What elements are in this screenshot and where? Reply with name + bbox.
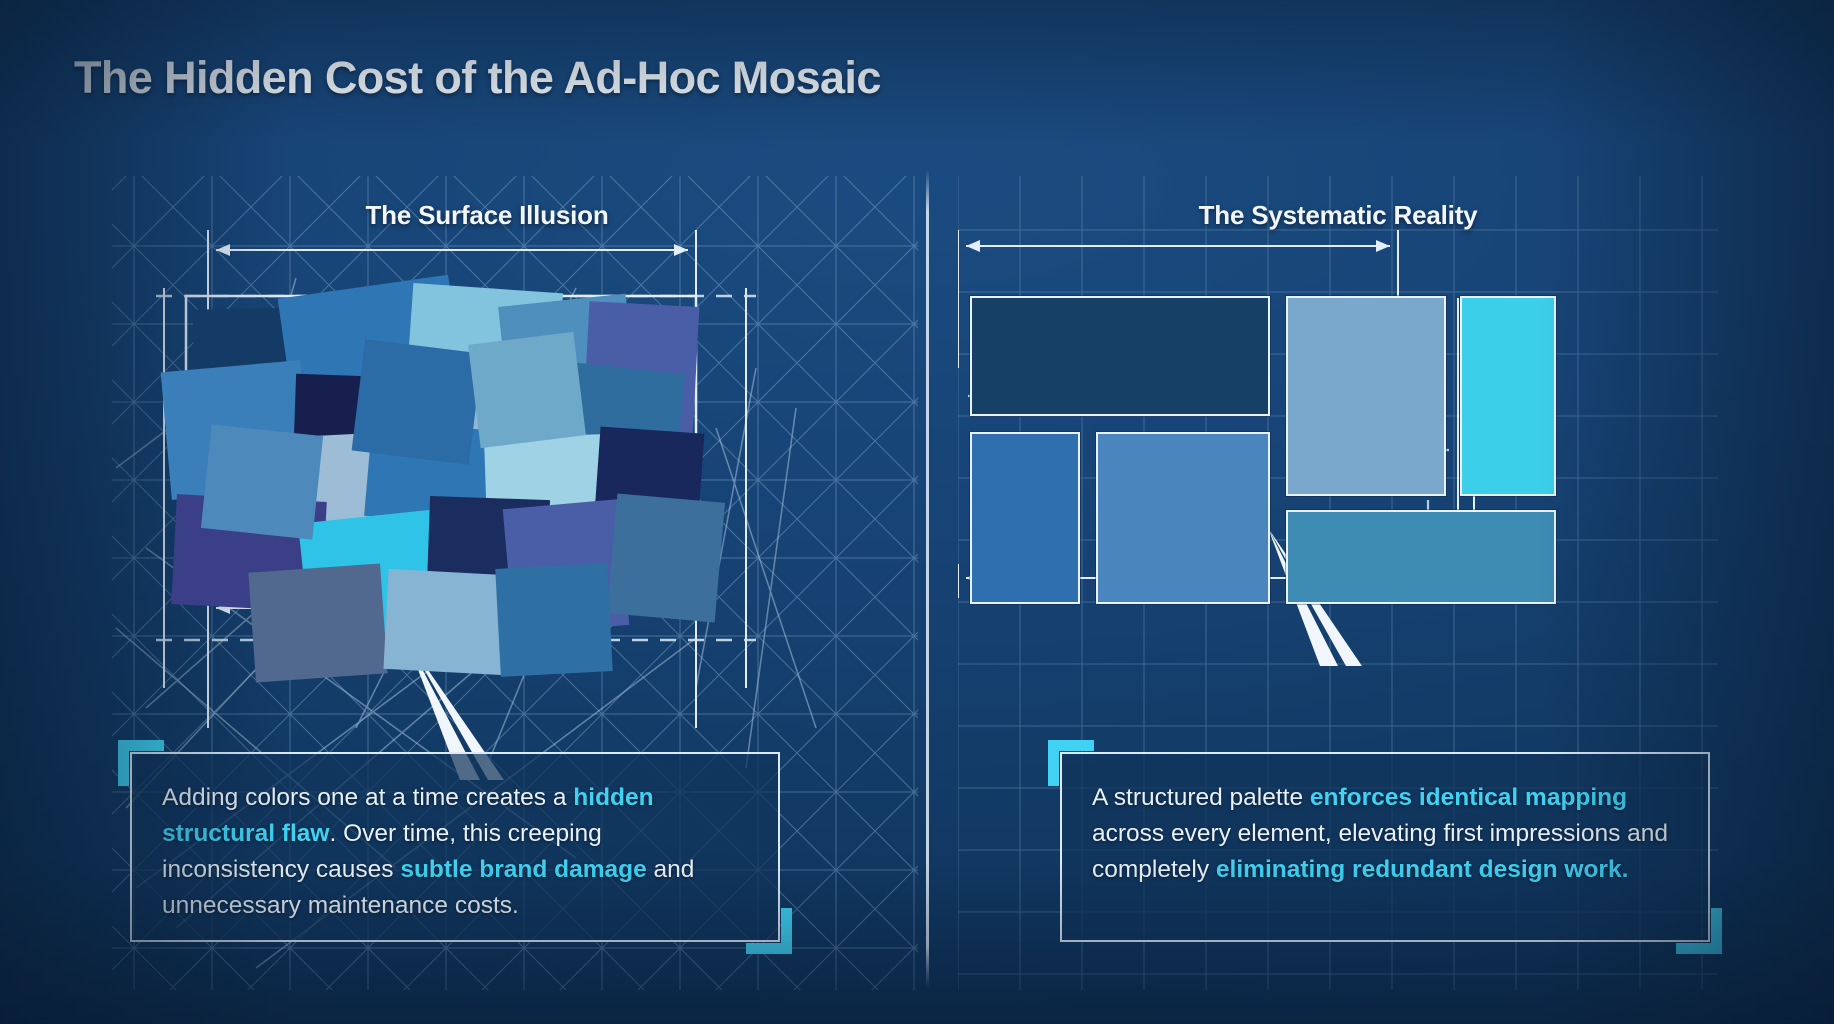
highlight-phrase: eliminating redundant design work.: [1216, 856, 1628, 883]
block-accent: [1460, 296, 1556, 496]
block-sidebar: [970, 432, 1080, 604]
panel-divider: [926, 170, 929, 988]
block-footer: [1286, 510, 1556, 604]
color-swatch: [352, 339, 483, 465]
color-swatch: [468, 332, 586, 448]
block-header: [970, 296, 1270, 416]
page-title: The Hidden Cost of the Ad-Hoc Mosaic: [74, 52, 881, 104]
color-swatch: [201, 424, 323, 539]
corner-bracket-bottom-right: [1676, 908, 1722, 954]
highlight-phrase: enforces identical mapping: [1310, 784, 1627, 811]
caption-text: A structured palette: [1092, 784, 1310, 811]
corner-bracket-bottom-right: [746, 908, 792, 954]
ad-hoc-mosaic: [56, 168, 918, 728]
highlight-phrase: subtle brand damage: [400, 856, 646, 883]
callout-systematic-reality: A structured palette enforces identical …: [1060, 752, 1710, 942]
callout-right-text: A structured palette enforces identical …: [1092, 780, 1678, 888]
corner-bracket-top-left: [1048, 740, 1094, 786]
infographic-canvas: The Hidden Cost of the Ad-Hoc Mosaic: [0, 0, 1834, 1024]
caption-text: Adding colors one at a time creates a: [162, 784, 573, 811]
callout-surface-illusion: Adding colors one at a time creates a hi…: [130, 752, 780, 942]
color-swatch: [607, 494, 725, 623]
block-main: [1096, 432, 1270, 604]
callout-left-text: Adding colors one at a time creates a hi…: [162, 780, 748, 924]
color-swatch: [495, 563, 612, 677]
color-swatch: [383, 569, 508, 675]
systematic-grid: [958, 168, 1718, 728]
corner-bracket-top-left: [118, 740, 164, 786]
color-swatch: [248, 564, 387, 683]
block-panel-light: [1286, 296, 1446, 496]
